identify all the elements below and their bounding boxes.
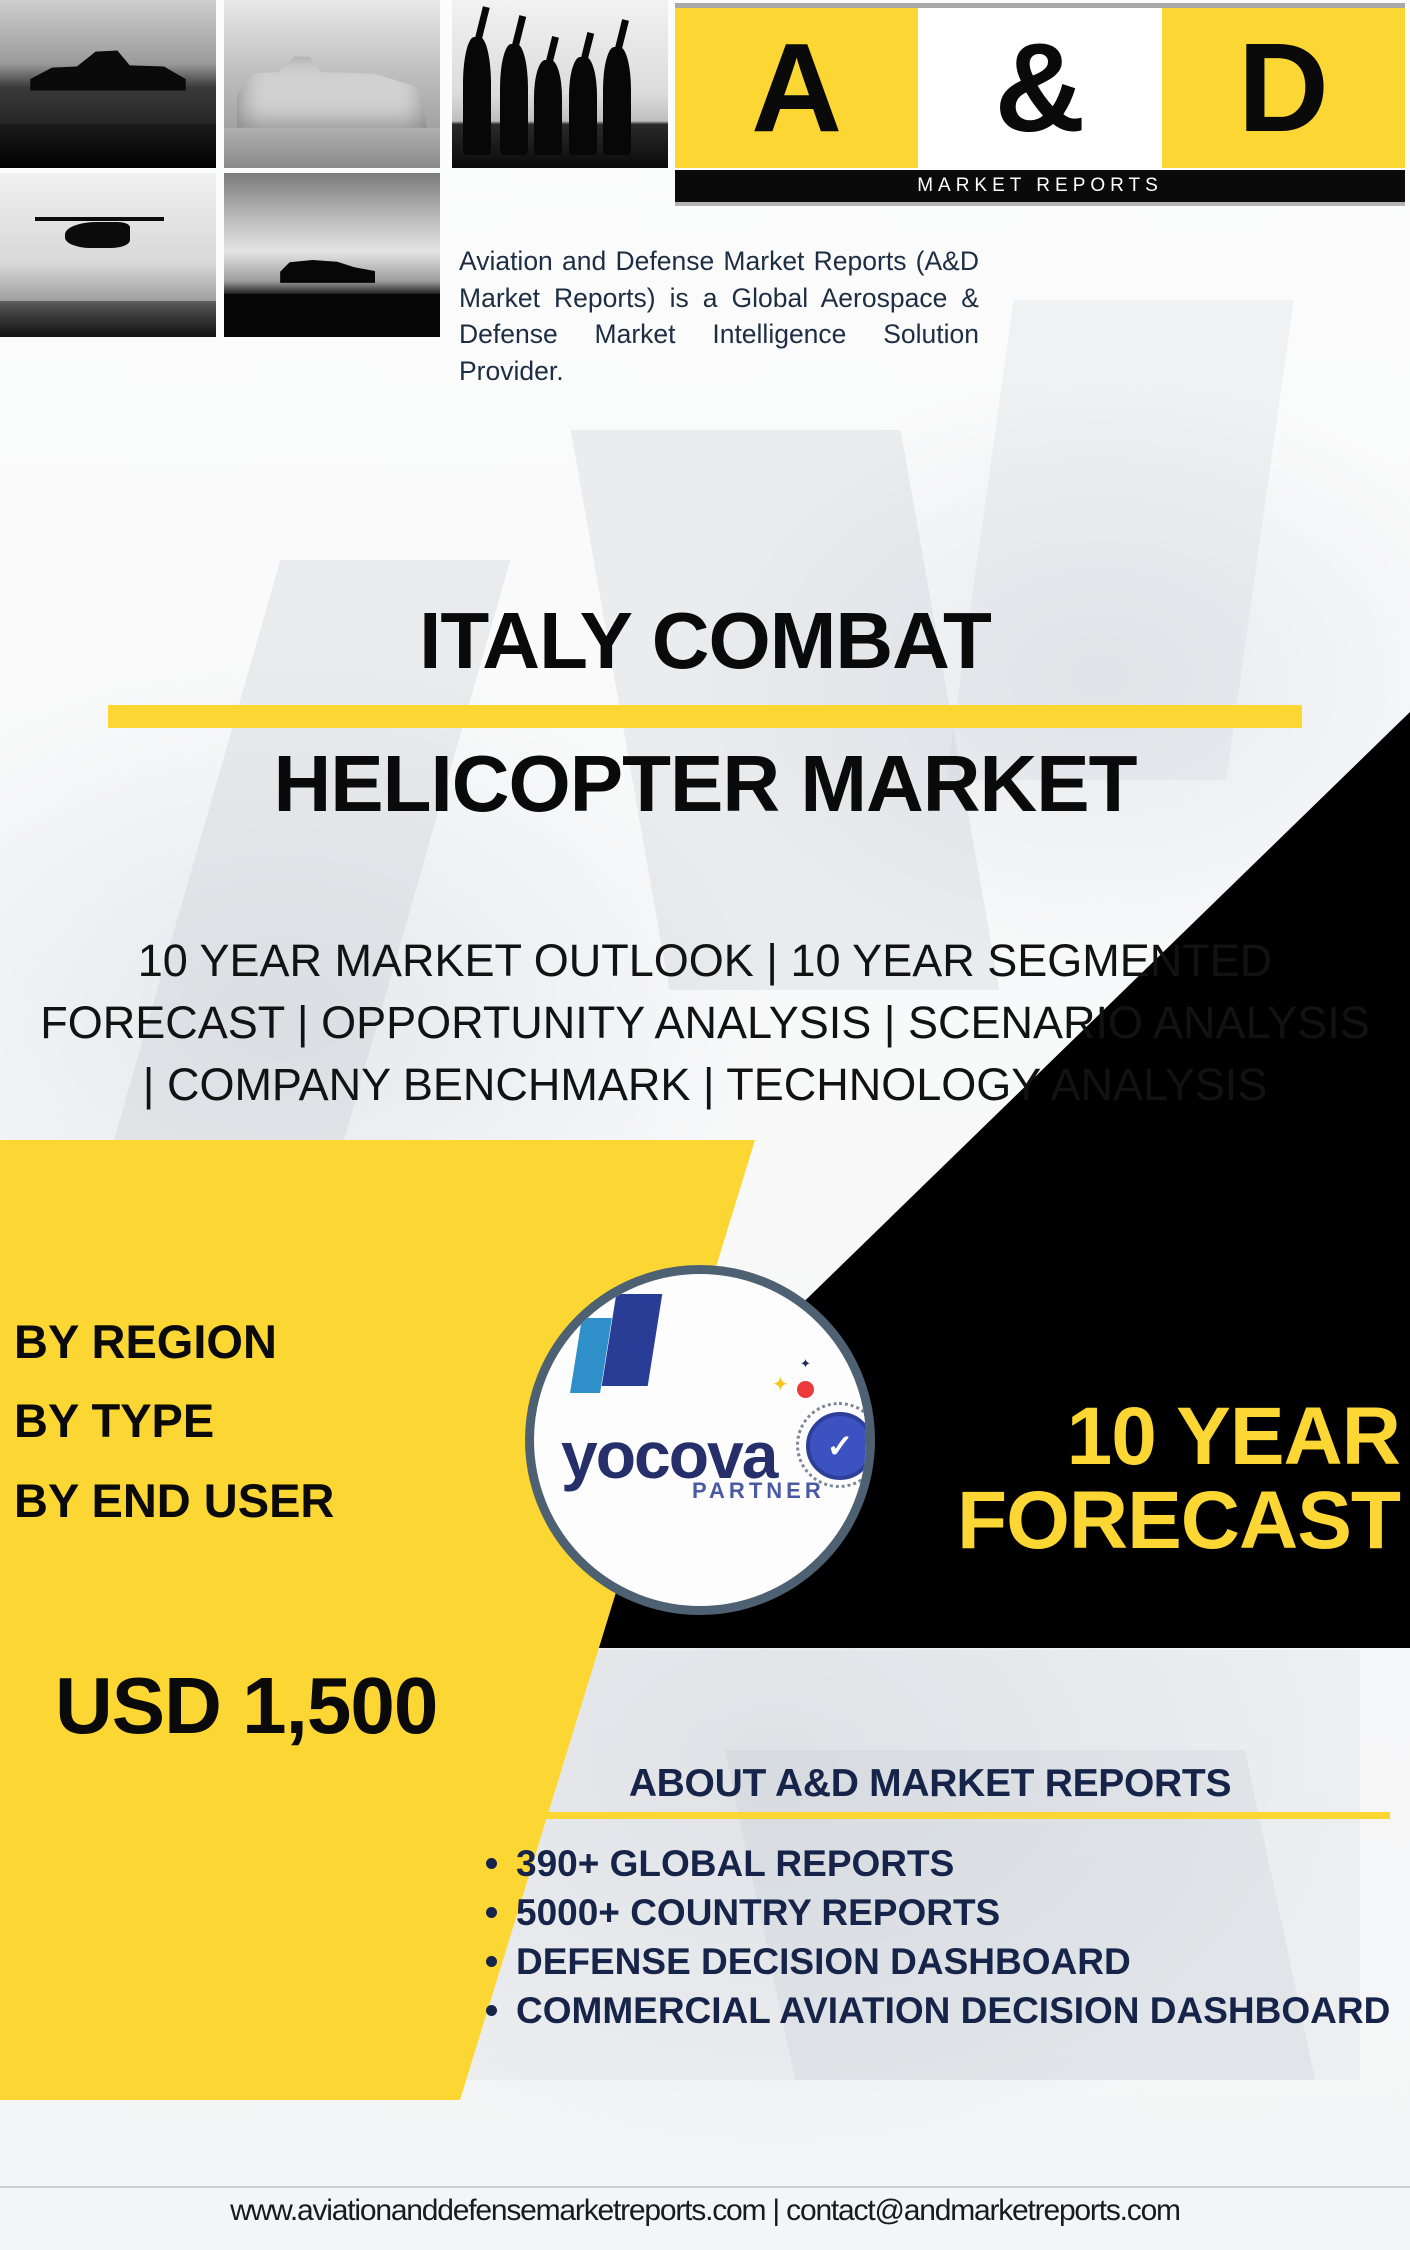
list-item: COMMERCIAL AVIATION DECISION DASHBOARD (516, 1988, 1400, 2033)
armored-vehicle-photo (224, 173, 440, 337)
title-divider-bar (108, 705, 1302, 728)
forecast-line2: FORECAST (610, 1479, 1400, 1563)
company-logo[interactable]: A & D MARKET REPORTS (675, 3, 1405, 203)
report-title-line1: ITALY COMBAT (0, 595, 1410, 687)
about-bullet-list: 390+ GLOBAL REPORTS 5000+ COUNTRY REPORT… (460, 1841, 1400, 2034)
company-description: Aviation and Defense Market Reports (A&D… (459, 243, 979, 389)
list-item: DEFENSE DECISION DASHBOARD (516, 1939, 1400, 1984)
about-heading: ABOUT A&D MARKET REPORTS (460, 1762, 1400, 1806)
sparkle-small-icon: ✦ (800, 1356, 811, 1372)
segmentation-item-region: BY REGION (14, 1310, 474, 1373)
segmentation-item-end-user: BY END USER (14, 1469, 474, 1532)
report-title-line2: HELICOPTER MARKET (0, 738, 1410, 830)
segmentation-item-type: BY TYPE (14, 1389, 474, 1452)
footer-contact[interactable]: www.aviationanddefensemarketreports.com … (0, 2194, 1410, 2228)
segmentation-list: BY REGION BY TYPE BY END USER (14, 1310, 474, 1548)
logo-tagline: MARKET REPORTS (917, 175, 1163, 197)
logo-letter-tiles: A & D (675, 8, 1405, 168)
list-item: 390+ GLOBAL REPORTS (516, 1841, 1400, 1886)
helicopter-photo (0, 173, 216, 337)
badge-shape-navy (602, 1294, 663, 1386)
forecast-banner: 10 YEAR FORECAST (610, 1395, 1400, 1564)
soldiers-photo (452, 0, 668, 168)
footer-divider (0, 2186, 1410, 2188)
logo-bottom-rule (675, 202, 1405, 206)
logo-letter-ampersand: & (918, 8, 1161, 168)
forecast-line1: 10 YEAR (610, 1395, 1400, 1479)
logo-letter-a: A (675, 8, 918, 168)
logo-letter-d: D (1162, 8, 1405, 168)
price-label: USD 1,500 (55, 1660, 437, 1752)
report-subtitle: 10 YEAR MARKET OUTLOOK | 10 YEAR SEGMENT… (30, 930, 1380, 1116)
list-item: 5000+ COUNTRY REPORTS (516, 1890, 1400, 1935)
sparkle-icon: ✦ (772, 1372, 789, 1397)
logo-tagline-bar: MARKET REPORTS (675, 170, 1405, 202)
report-cover-page: A & D MARKET REPORTS Aviation and Defens… (0, 0, 1410, 2250)
about-underline (470, 1812, 1390, 1819)
fighter-jet-photo (0, 0, 216, 168)
about-section: ABOUT A&D MARKET REPORTS 390+ GLOBAL REP… (460, 1762, 1400, 2038)
aircraft-carrier-photo (224, 0, 440, 168)
